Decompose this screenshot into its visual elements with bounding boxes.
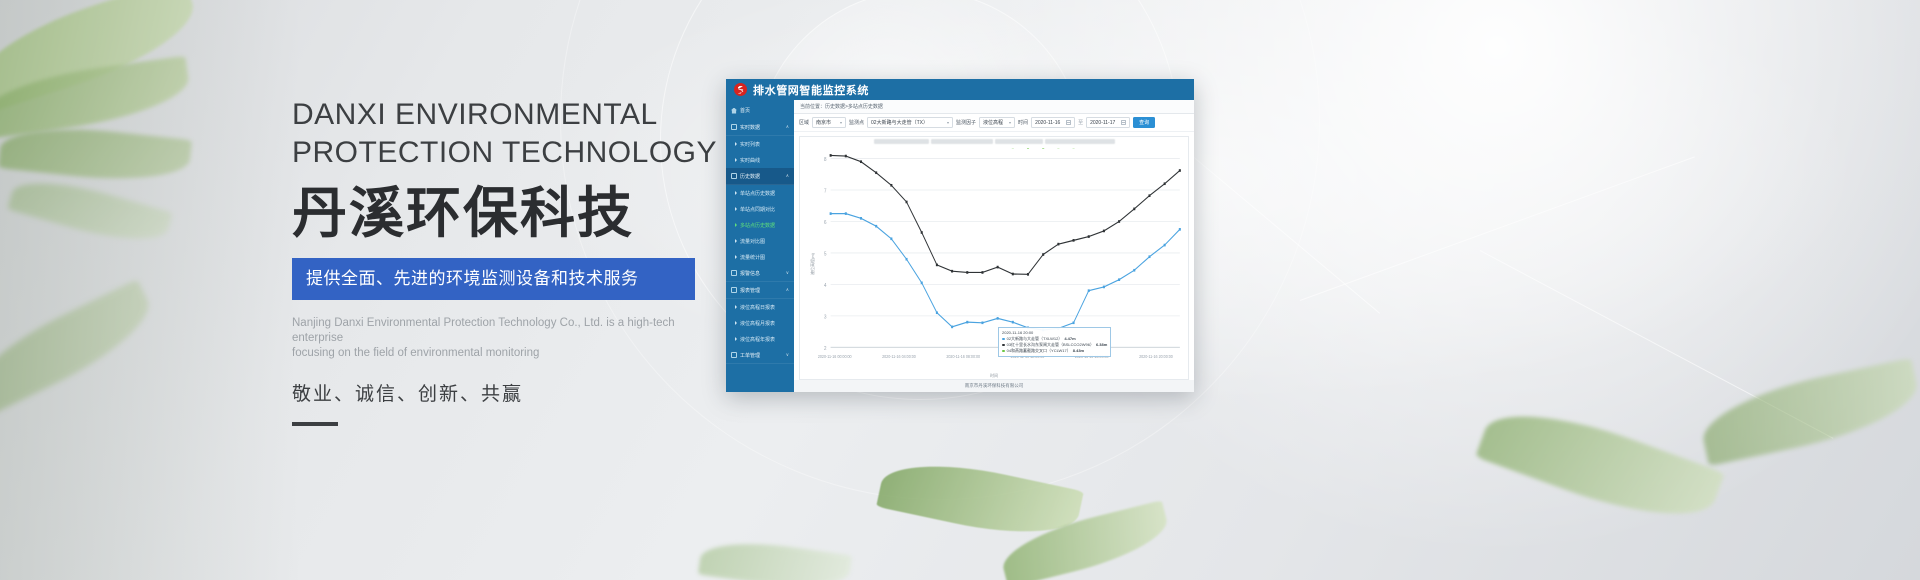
chevron-right-icon	[735, 337, 737, 341]
hero-motto: 敬业、诚信、创新、共赢	[292, 379, 712, 406]
chart-panel: 23456782020-11-16 00:00:002020-11-16 04:…	[799, 136, 1189, 380]
factor-value: 液位高程	[983, 119, 1003, 126]
toolbar-blurred-item[interactable]	[1045, 139, 1115, 144]
chart-tooltip: 2020-11-16 20:00 02大新路与大走管（TXLW12） 4.47m…	[998, 327, 1111, 357]
sidebar-group-reports[interactable]: 报表管理 ∧	[726, 282, 794, 299]
hero-divider-rule	[292, 422, 338, 426]
sidebar-item-single-station-history[interactable]: 单站点历史数据	[726, 185, 794, 201]
order-icon	[731, 352, 737, 358]
station-value: 02大新路与大走管（TX）	[871, 119, 928, 126]
chevron-right-icon	[735, 239, 737, 243]
tooltip-value: 8.43m	[1073, 348, 1084, 354]
search-button[interactable]: 查询	[1133, 117, 1155, 128]
svg-text:7: 7	[824, 188, 827, 195]
toolbar-blurred-item[interactable]	[874, 139, 929, 144]
chart-toolbar	[806, 139, 1182, 148]
hero-copy: DANXI ENVIRONMENTAL PROTECTION TECHNOLOG…	[292, 96, 712, 426]
sidebar-item-flow-statistics-chart[interactable]: 流量统计图	[726, 249, 794, 265]
svg-text:2020-11-16 08:00:00: 2020-11-16 08:00:00	[946, 353, 980, 359]
chevron-down-icon: ∨	[786, 270, 789, 276]
region-select[interactable]: 南京市 ▾	[812, 117, 846, 128]
sidebar-item-realtime-list[interactable]: 实时列表	[726, 136, 794, 152]
hero-description-line1: Nanjing Danxi Environmental Protection T…	[292, 316, 682, 346]
app-title: 排水管网智能监控系统	[753, 82, 869, 98]
sidebar-item-label: 实时列表	[740, 141, 760, 148]
main-content: 当前位置：历史数据>多站点历史数据 区域 南京市 ▾ 监测点 02大新路与大走管…	[794, 100, 1194, 392]
chevron-right-icon	[735, 321, 737, 325]
chevron-up-icon: ∧	[786, 173, 789, 179]
hero-english-title-line1: DANXI ENVIRONMENTAL	[292, 96, 712, 134]
home-icon	[731, 108, 737, 114]
svg-text:4: 4	[824, 283, 827, 290]
sidebar-item-label: 液位高程年报表	[740, 336, 775, 343]
sidebar-group-history[interactable]: 历史数据 ∧	[726, 168, 794, 185]
breadcrumb: 当前位置：历史数据>多站点历史数据	[794, 100, 1194, 114]
sidebar-group-alarms[interactable]: 报警信息 ∨	[726, 265, 794, 282]
sidebar-item-label: 流量对比图	[740, 238, 765, 245]
hero-description-line2: focusing on the field of environmental m…	[292, 346, 682, 361]
filter-toolbar: 区域 南京市 ▾ 监测点 02大新路与大走管（TX） ▾ 监测因子 液位高程 ▾…	[794, 114, 1194, 132]
tooltip-value: 6.38m	[1096, 342, 1107, 348]
shield-s-logo-icon	[734, 83, 747, 96]
sidebar-item-label: 流量统计图	[740, 254, 765, 261]
calendar-icon	[1066, 120, 1071, 125]
chevron-up-icon: ∧	[786, 124, 789, 130]
svg-text:3: 3	[824, 314, 827, 321]
chevron-right-icon	[735, 207, 737, 211]
tooltip-row: 04和燕路蓄截路交叉口（YCLW17） 8.43m	[1002, 348, 1107, 354]
y-axis-title: 液位高程(m)	[810, 253, 816, 275]
hero-english-title-line2: PROTECTION TECHNOLOGY	[292, 134, 712, 172]
chevron-down-icon: ▾	[840, 120, 842, 125]
chevron-down-icon: ▾	[947, 120, 949, 125]
station-label: 监测点	[849, 119, 864, 126]
date-range-separator: 至	[1078, 119, 1083, 126]
sidebar-item-label: 单站点同期对比	[740, 206, 775, 213]
chevron-right-icon	[735, 191, 737, 195]
svg-text:8: 8	[824, 157, 827, 164]
line-chart: 23456782020-11-16 00:00:002020-11-16 04:…	[800, 148, 1188, 379]
app-body: 首页 实时数据 ∧ 实时列表 实时曲线 历史数据 ∧ 单站	[726, 100, 1194, 392]
toolbar-blurred-item[interactable]	[995, 139, 1043, 144]
sidebar-item-realtime-curve[interactable]: 实时曲线	[726, 152, 794, 168]
time-label: 时间	[1018, 119, 1028, 126]
chevron-down-icon: ▾	[1009, 120, 1011, 125]
sidebar-item-label: 多站点历史数据	[740, 222, 775, 229]
region-label: 区域	[799, 119, 809, 126]
monitoring-equipment-photo	[1220, 0, 1920, 580]
sidebar-item-label: 报警信息	[740, 270, 760, 277]
report-icon	[731, 287, 737, 293]
hero-slogan-banner: 提供全面、先进的环境监测设备和技术服务	[292, 258, 695, 300]
factor-label: 监测因子	[956, 119, 976, 126]
start-date-input[interactable]: 2020-11-16	[1031, 117, 1075, 128]
chevron-right-icon	[735, 142, 737, 146]
sidebar-item-multi-station-history[interactable]: 多站点历史数据	[726, 217, 794, 233]
chevron-right-icon	[735, 158, 737, 162]
sidebar-item-home[interactable]: 首页	[726, 102, 794, 119]
hero-description: Nanjing Danxi Environmental Protection T…	[292, 316, 682, 361]
sidebar-item-label: 液位高程日报表	[740, 304, 775, 311]
chevron-up-icon: ∧	[786, 287, 789, 293]
series-color-dot	[1002, 350, 1005, 353]
station-select[interactable]: 02大新路与大走管（TX） ▾	[867, 117, 953, 128]
chevron-right-icon	[735, 223, 737, 227]
sidebar-item-label: 实时曲线	[740, 157, 760, 164]
svg-text:5: 5	[824, 251, 827, 258]
sidebar-item-yearly-level-report[interactable]: 液位高程年报表	[726, 331, 794, 347]
chevron-right-icon	[735, 255, 737, 259]
sidebar-item-label: 液位高程月报表	[740, 320, 775, 327]
app-title-bar: 排水管网智能监控系统	[726, 79, 1194, 100]
sidebar-group-work-orders[interactable]: 工单管理 ∨	[726, 347, 794, 364]
sidebar-item-label: 首页	[740, 107, 750, 114]
monitor-icon	[731, 124, 737, 130]
sidebar-item-flow-compare-chart[interactable]: 流量对比图	[726, 233, 794, 249]
svg-text:2020-11-16 20:00:00: 2020-11-16 20:00:00	[1139, 353, 1173, 359]
sidebar-item-single-station-compare[interactable]: 单站点同期对比	[726, 201, 794, 217]
chevron-right-icon	[735, 305, 737, 309]
sidebar-item-label: 报表管理	[740, 287, 760, 294]
app-footer: 南京市丹溪环保科技有限公司	[794, 380, 1194, 392]
sidebar-item-daily-level-report[interactable]: 液位高程日报表	[726, 299, 794, 315]
chart-icon	[731, 173, 737, 179]
hero-chinese-title: 丹溪环保科技	[292, 182, 712, 244]
tooltip-label: 04和燕路蓄截路交叉口（YCLW17）	[1007, 348, 1071, 354]
sidebar-item-monthly-level-report[interactable]: 液位高程月报表	[726, 315, 794, 331]
bell-icon	[731, 270, 737, 276]
svg-text:6: 6	[824, 220, 827, 227]
sidebar-item-label: 工单管理	[740, 352, 760, 359]
series-color-dot	[1002, 344, 1005, 347]
monitoring-system-window: 排水管网智能监控系统 首页 实时数据 ∧ 实时列表 实时曲线	[726, 79, 1194, 392]
factor-select[interactable]: 液位高程 ▾	[979, 117, 1015, 128]
x-axis-title: 时间	[800, 373, 1188, 379]
end-date-input[interactable]: 2020-11-17	[1086, 117, 1130, 128]
series-color-dot	[1002, 338, 1005, 341]
svg-text:2: 2	[824, 345, 827, 352]
svg-text:2020-11-16 04:00:00: 2020-11-16 04:00:00	[882, 353, 916, 359]
calendar-icon	[1121, 120, 1126, 125]
sidebar-item-label: 历史数据	[740, 173, 760, 180]
sidebar-nav: 首页 实时数据 ∧ 实时列表 实时曲线 历史数据 ∧ 单站	[726, 100, 794, 392]
sidebar-item-label: 实时数据	[740, 124, 760, 131]
chevron-down-icon: ∨	[786, 352, 789, 358]
chart-svg: 23456782020-11-16 00:00:002020-11-16 04:…	[800, 148, 1188, 379]
toolbar-blurred-item[interactable]	[931, 139, 993, 144]
start-date-value: 2020-11-16	[1035, 120, 1060, 126]
svg-text:2020-11-16 00:00:00: 2020-11-16 00:00:00	[818, 353, 852, 359]
end-date-value: 2020-11-17	[1090, 120, 1115, 126]
sidebar-item-label: 单站点历史数据	[740, 190, 775, 197]
region-value: 南京市	[816, 119, 831, 126]
sidebar-group-realtime[interactable]: 实时数据 ∧	[726, 119, 794, 136]
